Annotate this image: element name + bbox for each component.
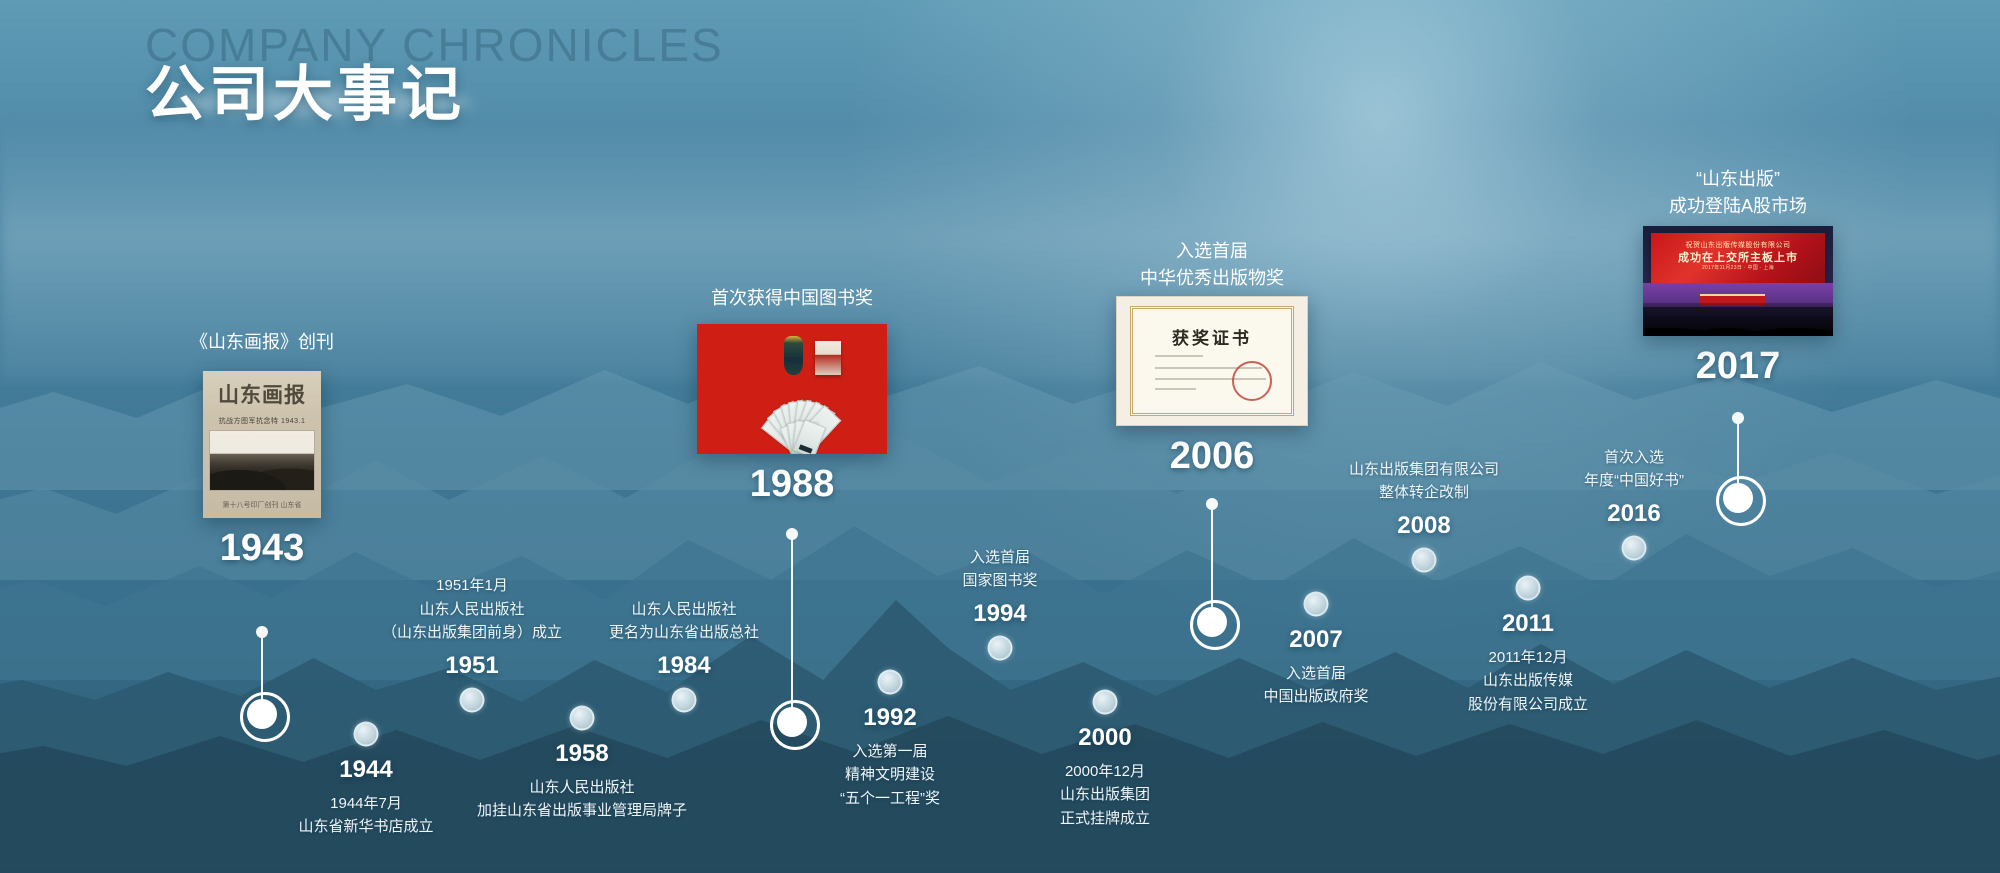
- magazine-photo: [209, 430, 315, 491]
- timeline-marker-small[interactable]: [988, 636, 1013, 661]
- timeline-year: 2007: [1289, 626, 1342, 654]
- timeline-description: 入选第一届 精神文明建设 “五个一工程”奖: [840, 740, 940, 810]
- infographic-canvas: COMPANY CHRONICLES 公司大事记 1943 山东画报 抗战方图军…: [0, 0, 2000, 873]
- timeline-description: 山东人民出版社 加挂山东省出版事业管理局牌子: [477, 776, 687, 823]
- timeline-caption: 首次获得中国图书奖: [711, 285, 873, 312]
- timeline-marker-small[interactable]: [354, 722, 379, 747]
- ipo-banner: 祝贺山东出版传媒股份有限公司 成功在上交所主板上市 2017年11月23日 · …: [1651, 233, 1826, 284]
- timeline-year: 1944: [339, 756, 392, 784]
- timeline-year: 2006: [1170, 435, 1255, 478]
- certificate-seal: [1232, 361, 1272, 401]
- ipo-banner-line-3: 2017年11月23日 · 中国 · 上海: [1651, 264, 1826, 271]
- page-title-wrap: 公司大事记: [145, 46, 724, 133]
- timeline-description: 入选首届 国家图书奖: [962, 546, 1037, 593]
- timeline-marker-small[interactable]: [878, 670, 903, 695]
- timeline-photo-certificate[interactable]: 获奖证书: [1116, 296, 1308, 426]
- timeline-photo-award[interactable]: [697, 324, 887, 454]
- timeline-stem: [1211, 504, 1213, 622]
- timeline-marker-small[interactable]: [460, 688, 485, 713]
- magazine-logo-text: 山东画报: [218, 379, 306, 409]
- timeline-marker-small[interactable]: [1516, 576, 1541, 601]
- certificate-title: 获奖证书: [1133, 324, 1290, 349]
- ipo-banner-line-2: 成功在上交所主板上市: [1651, 249, 1826, 265]
- timeline-description: 2011年12月 山东出版传媒 股份有限公司成立: [1468, 646, 1588, 716]
- timeline-marker-small[interactable]: [570, 706, 595, 731]
- magazine-masthead: 山东画报: [203, 371, 321, 417]
- timeline-year: 1992: [863, 704, 916, 732]
- timeline-stem: [791, 534, 793, 722]
- timeline-year: 2016: [1607, 500, 1660, 528]
- timeline-year: 1988: [750, 463, 835, 506]
- timeline-marker-small[interactable]: [1093, 690, 1118, 715]
- timeline-year: 2017: [1696, 345, 1781, 388]
- timeline-description: 入选首届 中国出版政府奖: [1263, 662, 1368, 709]
- timeline-marker-small[interactable]: [1304, 592, 1329, 617]
- timeline-caption: 《山东画报》创刊: [190, 329, 334, 356]
- magazine-subtitle: 抗战方图军抗念特 1943.1: [203, 415, 321, 427]
- certificate-fan: [707, 373, 878, 445]
- timeline-year: 2011: [1502, 610, 1554, 638]
- timeline-caption: “山东出版” 成功登陆A股市场: [1669, 166, 1807, 220]
- timeline-stem: [261, 632, 263, 714]
- magazine-footer-text: 第十八号印厂创刊 山东省: [203, 494, 321, 515]
- ipo-audience: [1643, 303, 1833, 336]
- timeline-description: 首次入选 年度“中国好书”: [1584, 446, 1684, 493]
- ipo-banner-line-1: 祝贺山东出版传媒股份有限公司: [1651, 240, 1826, 250]
- page-header: COMPANY CHRONICLES 公司大事记: [145, 18, 724, 133]
- timeline-year: 1943: [220, 527, 305, 570]
- timeline-caption: 入选首届 中华优秀出版物奖: [1140, 238, 1284, 292]
- timeline-description: 2000年12月 山东出版集团 正式挂牌成立: [1060, 760, 1150, 830]
- page-title: 公司大事记: [145, 46, 724, 133]
- timeline-marker-small[interactable]: [1622, 536, 1647, 561]
- timeline-year: 1984: [657, 652, 710, 680]
- timeline-year: 2000: [1078, 724, 1131, 752]
- award-box-object: [815, 341, 842, 375]
- timeline-stem: [1737, 418, 1739, 498]
- timeline-year: 1951: [445, 652, 498, 680]
- timeline-year: 2008: [1397, 512, 1450, 540]
- timeline-year: 1994: [973, 600, 1026, 628]
- timeline-description: 山东人民出版社 更名为山东省出版总社: [609, 598, 759, 645]
- timeline-photo-ipo[interactable]: 祝贺山东出版传媒股份有限公司 成功在上交所主板上市 2017年11月23日 · …: [1643, 226, 1833, 336]
- timeline-description: 山东出版集团有限公司 整体转企改制: [1349, 458, 1499, 505]
- timeline-description: 1944年7月 山东省新华书店成立: [298, 792, 433, 839]
- timeline-marker-small[interactable]: [1412, 548, 1437, 573]
- timeline-photo-magazine-cover[interactable]: 山东画报 抗战方图军抗念特 1943.1 第十八号印厂创刊 山东省: [203, 371, 321, 518]
- timeline-marker-small[interactable]: [672, 688, 697, 713]
- timeline-year: 1958: [555, 740, 608, 768]
- certificate-frame: 获奖证书: [1130, 306, 1293, 416]
- timeline-description: 1951年1月 山东人民出版社 （山东出版集团前身）成立: [382, 574, 562, 644]
- vase-object: [784, 336, 803, 375]
